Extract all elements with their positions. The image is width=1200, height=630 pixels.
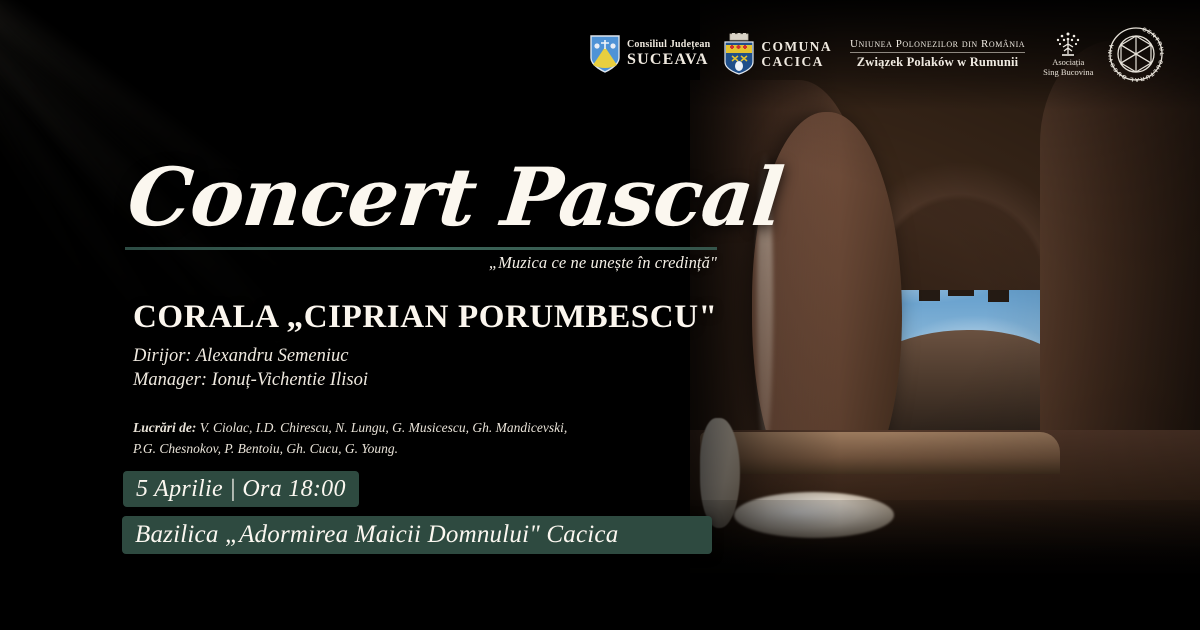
poster-title: Concert Pascal xyxy=(122,150,753,255)
works-line-1: Lucrări de: V. Ciolac, I.D. Chirescu, N.… xyxy=(133,418,653,439)
poster-tagline: „Muzica ce ne unește în credință" xyxy=(125,253,717,273)
works-list: Lucrări de: V. Ciolac, I.D. Chirescu, N.… xyxy=(133,418,653,460)
choir-name: CORALA „CIPRIAN PORUMBESCU" xyxy=(133,299,718,336)
works-label: Lucrări de: xyxy=(133,420,196,435)
manager-line: Manager: Ionuț-Vichentie Ilisoi xyxy=(133,368,368,392)
works-composers-2: P.G. Chesnokov, P. Bentoiu, Gh. Cucu, G.… xyxy=(133,439,653,460)
easter-concert-poster: Consiliul Județean SUCEAVA xyxy=(0,0,1200,630)
works-composers-1: V. Ciolac, I.D. Chirescu, N. Lungu, G. M… xyxy=(196,420,567,435)
event-venue-badge: Bazilica „Adormirea Maicii Domnului" Cac… xyxy=(122,516,712,554)
title-underline xyxy=(125,247,717,250)
event-date-badge: 5 Aprilie | Ora 18:00 xyxy=(123,471,359,507)
poster-text-content: Concert Pascal „Muzica ce ne unește în c… xyxy=(0,0,1200,630)
conductor-line: Dirijor: Alexandru Semeniuc xyxy=(133,344,368,368)
credits-block: Dirijor: Alexandru Semeniuc Manager: Ion… xyxy=(133,344,368,393)
